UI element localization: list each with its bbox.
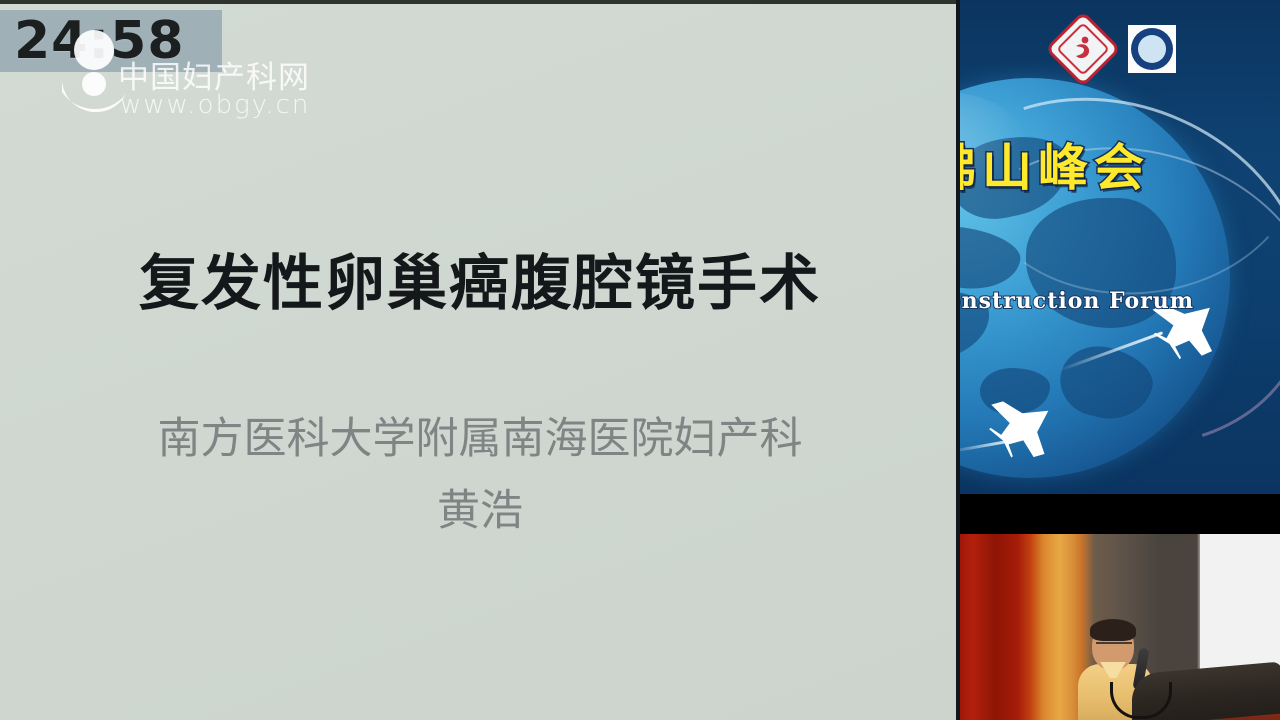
- presenter-hair: [1090, 619, 1136, 641]
- playback-timer-value: 24:58: [0, 15, 185, 67]
- presenter-glasses: [1096, 642, 1132, 652]
- seal-outer-ring: [1131, 28, 1173, 70]
- forum-subtitle: onstruction Forum: [960, 288, 1194, 314]
- slide-canvas: [0, 4, 960, 720]
- feed-top-letterbox: [960, 530, 1280, 534]
- projection-screen: [1200, 534, 1280, 674]
- summit-title: 佛山峰会: [960, 128, 1150, 200]
- slide-affiliation: 南方医科大学附属南海医院妇产科: [0, 406, 960, 473]
- slide-title: 复发性卵巢癌腹腔镜手术: [0, 252, 960, 317]
- red-diamond-emblem-logo-icon: [1045, 11, 1121, 87]
- video-feed-separator: [960, 494, 1280, 530]
- seal-inner-disc: [1138, 35, 1166, 63]
- blue-circular-seal-logo-icon: [1128, 25, 1176, 73]
- conference-logo-row: [1056, 22, 1176, 76]
- slide-presenter-name: 黄浩: [0, 478, 960, 545]
- logo-red-glyph: [1072, 36, 1094, 62]
- video-feed-column: 佛山峰会 onstruction Forum: [960, 0, 1280, 720]
- speaker-camera-feed[interactable]: [960, 530, 1280, 720]
- slide-top-edge: [0, 0, 960, 4]
- conference-backdrop-feed[interactable]: 佛山峰会 onstruction Forum: [960, 0, 1280, 494]
- video-player-stage: 复发性卵巢癌腹腔镜手术 南方医科大学附属南海医院妇产科 黄浩 24:58 中国妇…: [0, 0, 1280, 720]
- playback-timer-badge: 24:58: [0, 10, 222, 72]
- presentation-slide-panel: 复发性卵巢癌腹腔镜手术 南方医科大学附属南海医院妇产科 黄浩 24:58 中国妇…: [0, 0, 960, 720]
